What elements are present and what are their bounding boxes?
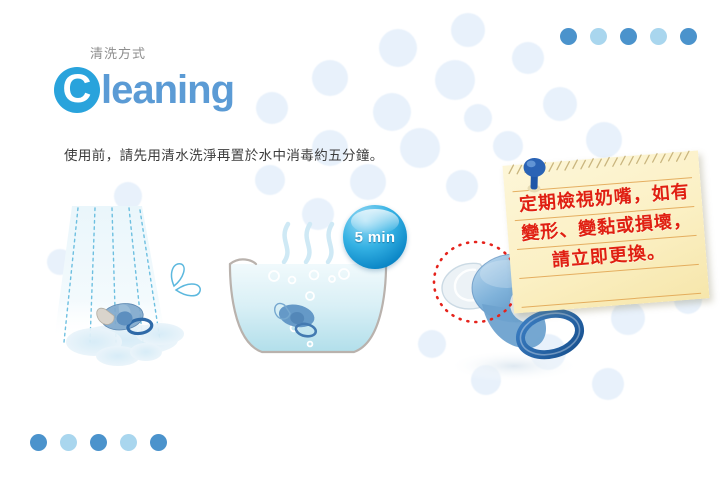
steam-icon (284, 224, 332, 262)
duration-badge-label: 5 min (355, 229, 396, 246)
background-dot (543, 87, 577, 121)
background-dot (379, 29, 417, 67)
scene-rinse-under-water (48, 190, 248, 380)
water-stream-icon (48, 190, 248, 380)
decor-dot (560, 28, 577, 45)
title-rest-text: leaning (101, 70, 234, 110)
splash-droplet-icon (172, 264, 201, 296)
intro-text: 使用前，請先用清水洗淨再置於水中消毒約五分鐘。 (64, 144, 384, 164)
background-dot (373, 93, 411, 131)
decor-dot (90, 434, 107, 451)
cleaning-instruction-page: 5 min 定期檢視奶嘴，如有變形、變黏或損壞，請立即更換。 清洗方式 (0, 0, 720, 479)
decor-dot (30, 434, 47, 451)
heading-kicker: 清洗方式 (90, 45, 234, 63)
background-dot (512, 42, 544, 74)
background-dot (435, 60, 475, 100)
background-dot (256, 92, 288, 124)
background-dot (446, 170, 478, 202)
background-dot (611, 301, 645, 335)
decor-dot (60, 434, 77, 451)
sticky-note: 定期檢視奶嘴，如有變形、變黏或損壞，請立即更換。 (502, 151, 709, 314)
title-initial-badge: C (54, 67, 100, 113)
background-dot (312, 60, 348, 96)
note-rule-line (522, 293, 702, 308)
decor-dot (590, 28, 607, 45)
background-dot (464, 104, 492, 132)
background-dot (451, 13, 485, 47)
pushpin-icon (519, 155, 550, 196)
heading-title: C leaning (54, 67, 234, 113)
title-initial-letter: C (63, 69, 92, 109)
background-dot (493, 131, 523, 161)
decor-dot (150, 434, 167, 451)
duration-badge: 5 min (343, 205, 407, 269)
decor-dot (120, 434, 137, 451)
decor-dot (680, 28, 697, 45)
background-dot (586, 122, 622, 158)
background-dot (400, 128, 440, 168)
decor-dots-bottom-left (30, 434, 167, 451)
background-dot (255, 165, 285, 195)
page-heading: 清洗方式 C leaning (88, 45, 234, 113)
decor-dots-top-right (560, 28, 697, 45)
decor-dot (620, 28, 637, 45)
decor-dot (650, 28, 667, 45)
background-dot (350, 164, 386, 200)
